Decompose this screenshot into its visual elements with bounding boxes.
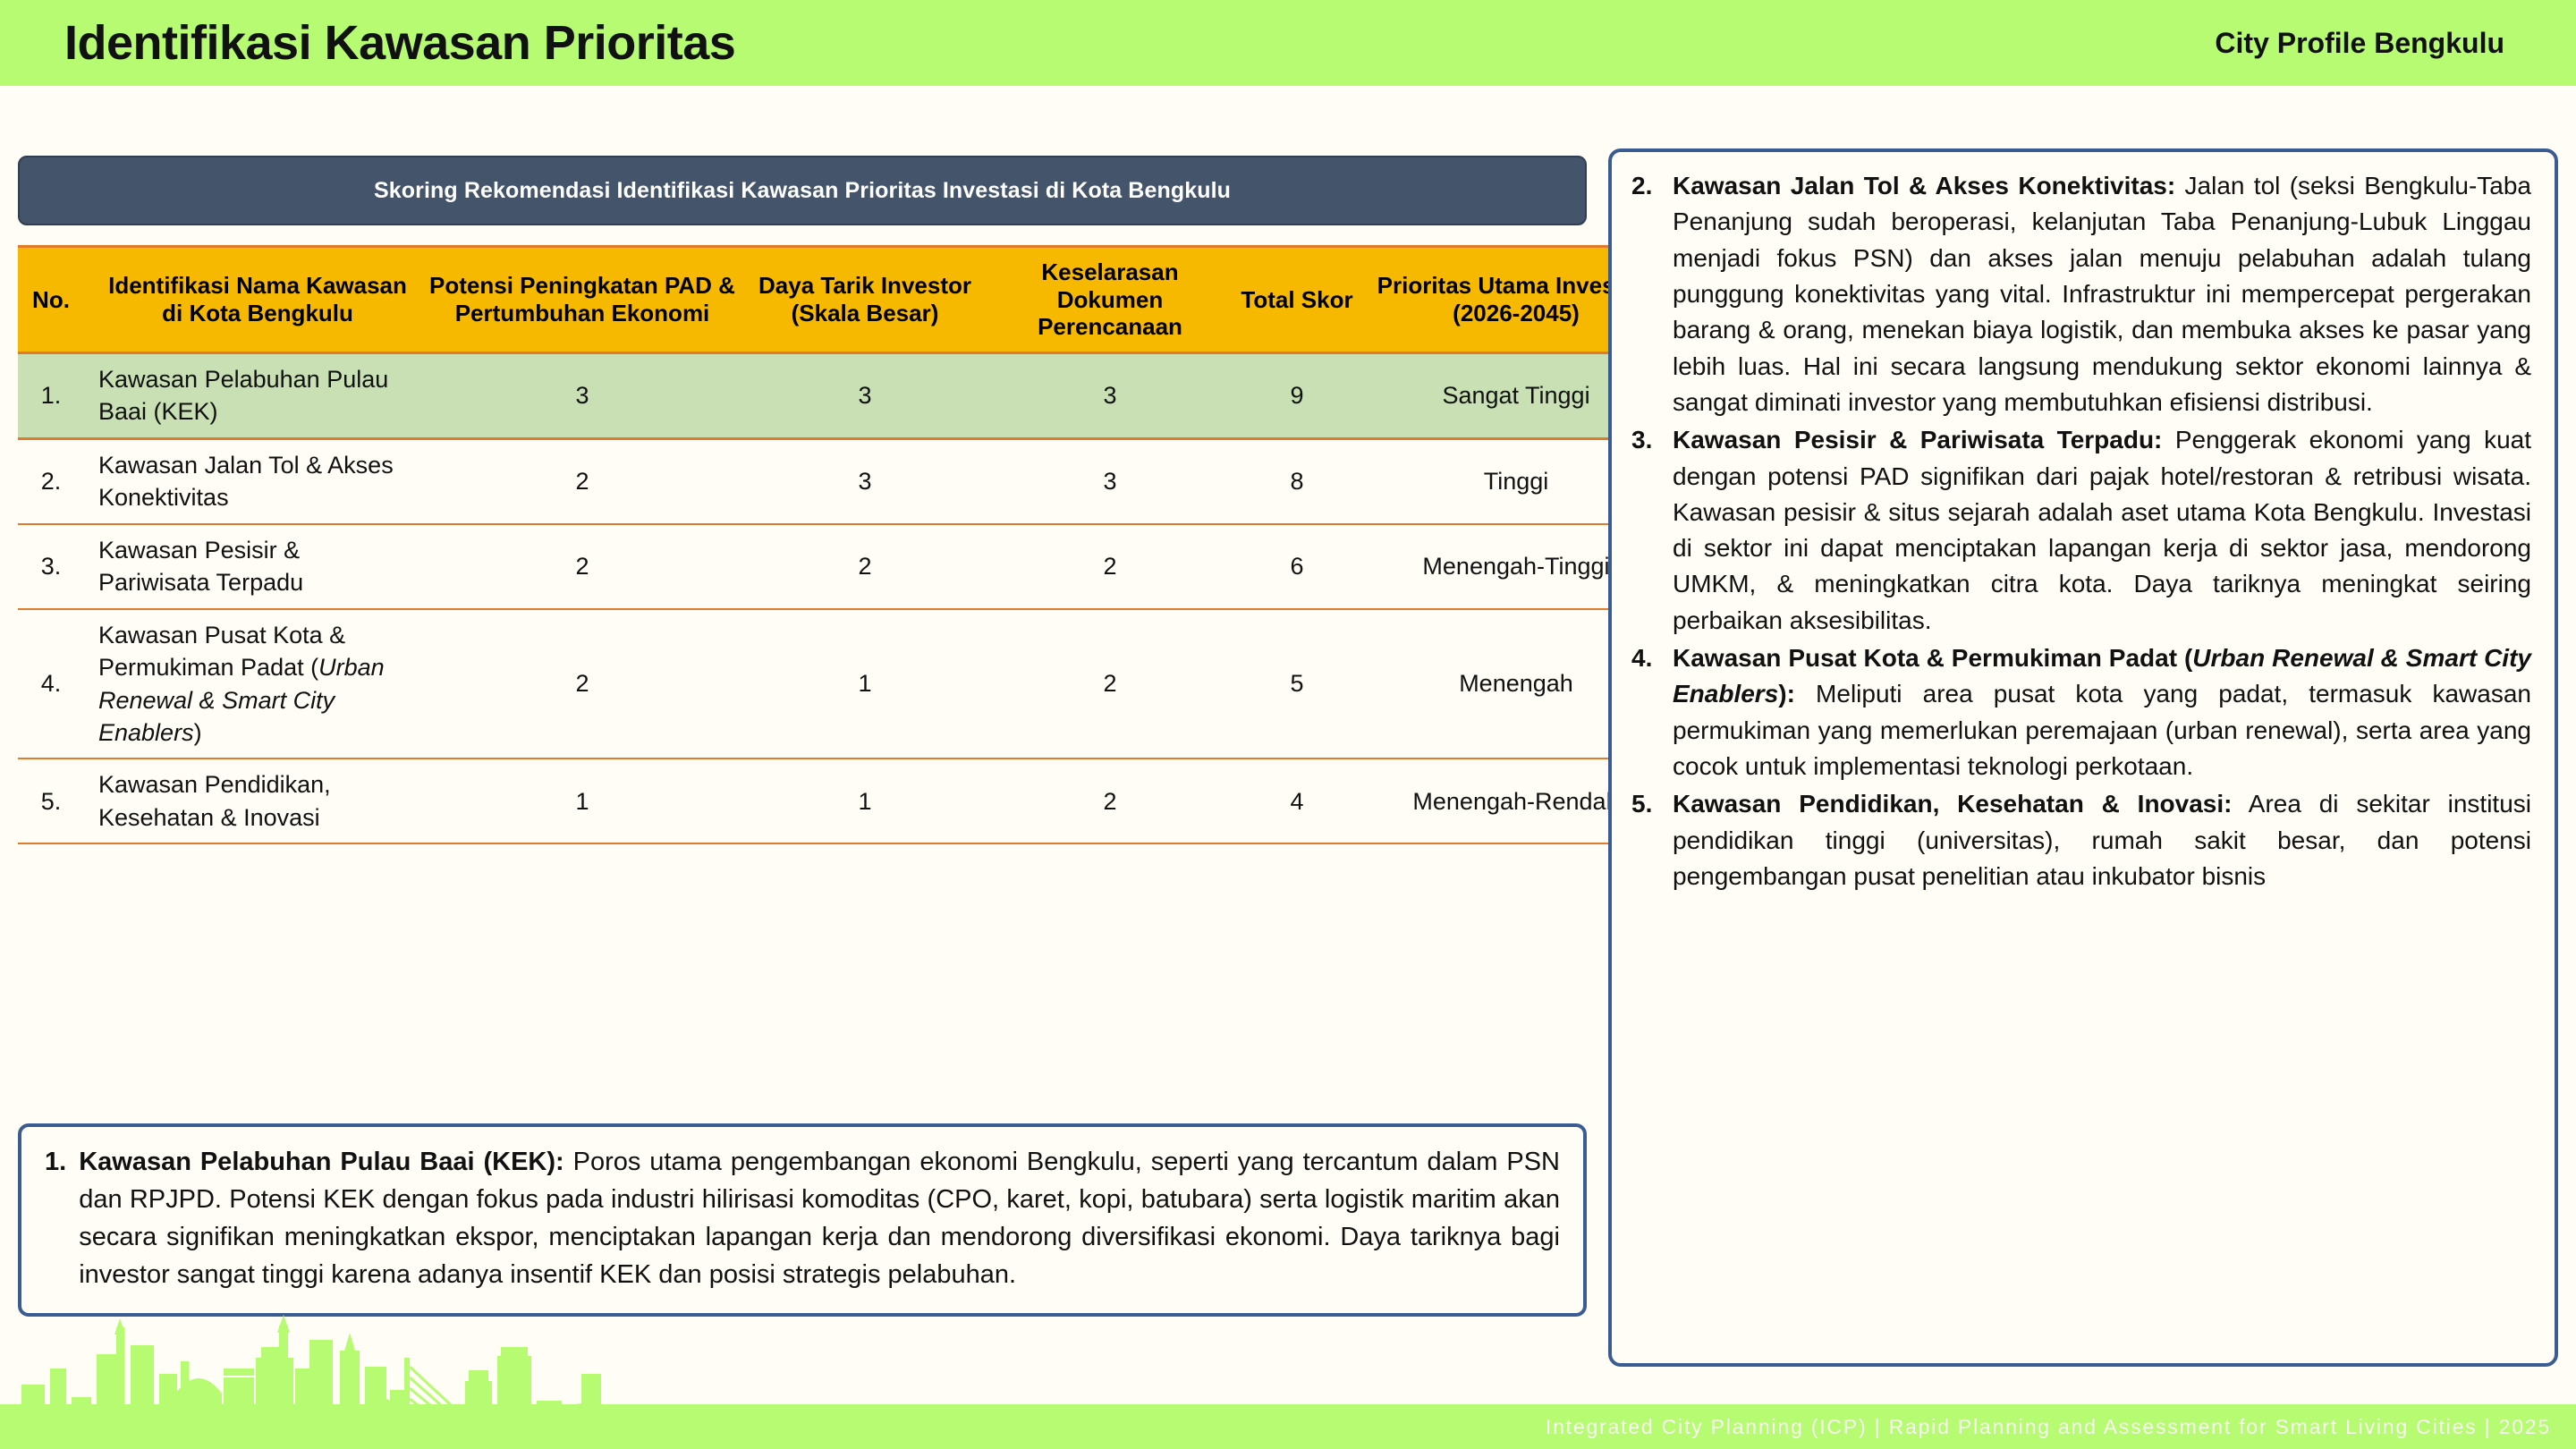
list-item-body: Jalan tol (seksi Bengkulu-Taba Penanjung… [1673, 172, 2531, 416]
list-item-text: Kawasan Pusat Kota & Permukiman Padat (U… [1673, 640, 2531, 784]
col-header-keselarasan: Keselarasan Dokumen Perencanaan [987, 247, 1233, 353]
page-title: Identifikasi Kawasan Prioritas [64, 15, 735, 71]
footer-caption: Integrated City Planning (ICP) | Rapid P… [1546, 1415, 2551, 1439]
list-item-body: Meliputi area pusat kota yang padat, ter… [1673, 680, 2531, 780]
scoring-table-section: Skoring Rekomendasi Identifikasi Kawasan… [18, 156, 1587, 844]
cell-daya: 1 [742, 609, 987, 759]
cell-pad: 3 [422, 353, 742, 439]
cell-keselarasan: 3 [987, 438, 1233, 523]
scoring-table-banner-label: Skoring Rekomendasi Identifikasi Kawasan… [374, 178, 1231, 204]
col-header-name: Identifikasi Nama Kawasan di Kota Bengku… [84, 247, 422, 353]
cell-daya: 3 [742, 353, 987, 439]
list-item-text: Kawasan Pelabuhan Pulau Baai (KEK): Poro… [79, 1143, 1560, 1293]
page-header: Identifikasi Kawasan Prioritas City Prof… [0, 0, 2576, 86]
cell-daya: 3 [742, 438, 987, 523]
header-subtitle: City Profile Bengkulu [2215, 27, 2526, 60]
cell-name-tail: ) [194, 719, 202, 746]
list-item-title-post: ): [1778, 680, 1795, 708]
cell-no: 4. [18, 609, 84, 759]
list-item-text: Kawasan Pesisir & Pariwisata Terpadu: Pe… [1673, 422, 2531, 639]
list-item-number: 5. [1631, 786, 1673, 894]
left-description-box: 1. Kawasan Pelabuhan Pulau Baai (KEK): P… [18, 1123, 1587, 1317]
table-row[interactable]: 3. Kawasan Pesisir & Pariwisata Terpadu … [18, 524, 1671, 609]
cell-no: 2. [18, 438, 84, 523]
list-item-body: Penggerak ekonomi yang kuat dengan poten… [1673, 426, 2531, 634]
cell-keselarasan: 2 [987, 758, 1233, 843]
list-item-title: Kawasan Pelabuhan Pulau Baai (KEK): [79, 1148, 564, 1176]
list-item: 5. Kawasan Pendidikan, Kesehatan & Inova… [1631, 786, 2531, 894]
cell-keselarasan: 2 [987, 524, 1233, 609]
cell-total: 5 [1233, 609, 1361, 759]
list-item-number: 4. [1631, 640, 1673, 784]
list-item: 4. Kawasan Pusat Kota & Permukiman Padat… [1631, 640, 2531, 784]
list-item-number: 1. [45, 1143, 79, 1293]
cell-pad: 2 [422, 609, 742, 759]
list-item-text: Kawasan Pendidikan, Kesehatan & Inovasi:… [1673, 786, 2531, 894]
cell-total: 9 [1233, 353, 1361, 439]
cell-no: 5. [18, 758, 84, 843]
cell-no: 1. [18, 353, 84, 439]
cell-name: Kawasan Pusat Kota & Permukiman Padat (U… [84, 609, 422, 759]
table-row[interactable]: 4. Kawasan Pusat Kota & Permukiman Padat… [18, 609, 1671, 759]
cell-pad: 2 [422, 438, 742, 523]
table-row[interactable]: 5. Kawasan Pendidikan, Kesehatan & Inova… [18, 758, 1671, 843]
col-header-total-skor: Total Skor [1233, 247, 1361, 353]
table-row[interactable]: 2. Kawasan Jalan Tol & Akses Konektivita… [18, 438, 1671, 523]
page-content: Skoring Rekomendasi Identifikasi Kawasan… [0, 86, 2576, 1449]
list-item-number: 2. [1631, 168, 1673, 420]
cell-total: 6 [1233, 524, 1361, 609]
list-item-title-pre: Kawasan Pusat Kota & Permukiman Padat ( [1673, 644, 2192, 672]
list-item-title: Kawasan Pendidikan, Kesehatan & Inovasi: [1673, 790, 2232, 818]
table-header-row: No. Identifikasi Nama Kawasan di Kota Be… [18, 247, 1671, 353]
list-item-title: Kawasan Pesisir & Pariwisata Terpadu: [1673, 426, 2162, 453]
cell-daya: 1 [742, 758, 987, 843]
cell-name: Kawasan Pelabuhan Pulau Baai (KEK) [84, 353, 422, 439]
cell-total: 8 [1233, 438, 1361, 523]
list-item-title: Kawasan Jalan Tol & Akses Konektivitas: [1673, 172, 2175, 199]
cell-pad: 1 [422, 758, 742, 843]
cell-name: Kawasan Pesisir & Pariwisata Terpadu [84, 524, 422, 609]
table-row[interactable]: 1. Kawasan Pelabuhan Pulau Baai (KEK) 3 … [18, 353, 1671, 439]
cell-name: Kawasan Pendidikan, Kesehatan & Inovasi [84, 758, 422, 843]
col-header-daya-tarik: Daya Tarik Investor (Skala Besar) [742, 247, 987, 353]
list-item-text: Kawasan Jalan Tol & Akses Konektivitas: … [1673, 168, 2531, 420]
scoring-table-banner: Skoring Rekomendasi Identifikasi Kawasan… [18, 156, 1587, 225]
cell-daya: 2 [742, 524, 987, 609]
scoring-table: No. Identifikasi Nama Kawasan di Kota Be… [18, 245, 1671, 844]
list-item: 2. Kawasan Jalan Tol & Akses Konektivita… [1631, 168, 2531, 420]
cell-pad: 2 [422, 524, 742, 609]
list-item: 3. Kawasan Pesisir & Pariwisata Terpadu:… [1631, 422, 2531, 639]
list-item-number: 3. [1631, 422, 1673, 639]
cell-total: 4 [1233, 758, 1361, 843]
cell-name: Kawasan Jalan Tol & Akses Konektivitas [84, 438, 422, 523]
col-header-no: No. [18, 247, 84, 353]
right-description-box: 2. Kawasan Jalan Tol & Akses Konektivita… [1608, 148, 2558, 1367]
cell-name-plain: Kawasan Pusat Kota & Permukiman Padat ( [98, 622, 345, 681]
col-header-pad: Potensi Peningkatan PAD & Pertumbuhan Ek… [422, 247, 742, 353]
cell-keselarasan: 2 [987, 609, 1233, 759]
cell-no: 3. [18, 524, 84, 609]
list-item: 1. Kawasan Pelabuhan Pulau Baai (KEK): P… [45, 1143, 1560, 1293]
cell-keselarasan: 3 [987, 353, 1233, 439]
